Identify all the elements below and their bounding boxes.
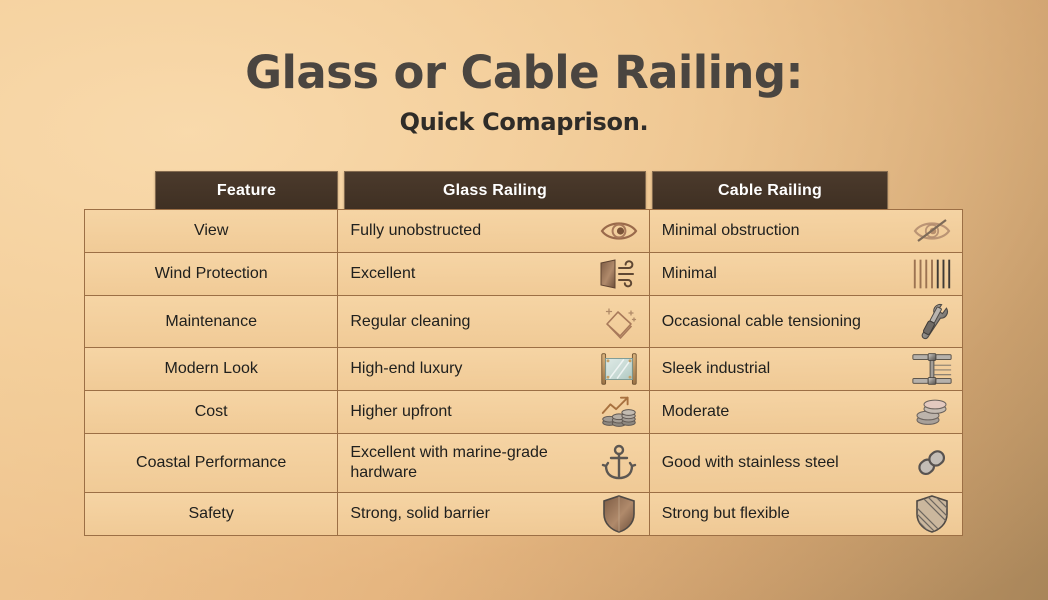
column-header-cable-railing: Cable Railing <box>652 171 888 210</box>
column-header-feature: Feature <box>155 171 338 210</box>
cell-glass-railing: Fully unobstructed <box>338 210 649 252</box>
feature-label: Safety <box>189 504 234 524</box>
coins-rising-chart-icon <box>597 392 641 432</box>
cell-cable-railing: Strong but flexible <box>650 493 962 535</box>
cable-value: Occasional cable tensioning <box>662 312 861 332</box>
comparison-infographic: Glass or Cable Railing: Quick Comaprison… <box>0 0 1048 600</box>
table-row: Coastal Performance Excellent with marin… <box>85 434 962 493</box>
glass-value: High-end luxury <box>350 359 462 379</box>
glass-value: Strong, solid barrier <box>350 504 490 524</box>
column-header-glass-railing: Glass Railing <box>344 171 646 210</box>
cell-glass-railing: Higher upfront <box>338 391 649 433</box>
feature-label: View <box>194 221 228 241</box>
cell-feature: Maintenance <box>85 296 338 347</box>
cell-feature: View <box>85 210 338 252</box>
page-title: Glass or Cable Railing: <box>0 46 1048 99</box>
cable-post-icon <box>910 349 954 389</box>
cell-feature: Modern Look <box>85 348 338 390</box>
cable-value: Moderate <box>662 402 730 422</box>
table-row: Safety Strong, solid barrier Strong but … <box>85 493 962 535</box>
feature-label: Coastal Performance <box>136 453 286 473</box>
table-row: Wind Protection Excellent Minimal <box>85 253 962 296</box>
table-row: Modern Look High-end luxury Sleek indust… <box>85 348 962 391</box>
cell-feature: Cost <box>85 391 338 433</box>
feature-label: Modern Look <box>164 359 257 379</box>
eye-slash-icon <box>910 211 954 251</box>
cell-glass-railing: Strong, solid barrier <box>338 493 649 535</box>
table-header-row: Feature Glass Railing Cable Railing <box>155 171 888 210</box>
coins-stack-icon <box>910 392 954 432</box>
vertical-cables-icon <box>910 254 954 294</box>
feature-label: Maintenance <box>165 312 257 332</box>
cell-cable-railing: Minimal <box>650 253 962 295</box>
cell-cable-railing: Sleek industrial <box>650 348 962 390</box>
cell-glass-railing: Excellent <box>338 253 649 295</box>
cell-glass-railing: Regular cleaning <box>338 296 649 347</box>
table-row: View Fully unobstructed Minimal obstruct… <box>85 210 962 253</box>
shield-solid-icon <box>597 494 641 534</box>
wrench-screwdriver-icon <box>910 302 954 342</box>
cell-feature: Safety <box>85 493 338 535</box>
sparkle-cloth-icon <box>597 302 641 342</box>
wind-panel-icon <box>597 254 641 294</box>
glass-value: Fully unobstructed <box>350 221 481 241</box>
cable-value: Strong but flexible <box>662 504 790 524</box>
glass-value: Excellent with marine-grade hardware <box>350 443 590 483</box>
glass-value: Higher upfront <box>350 402 451 422</box>
comparison-table: View Fully unobstructed Minimal obstruct… <box>84 209 963 536</box>
shield-striped-icon <box>910 494 954 534</box>
cell-cable-railing: Good with stainless steel <box>650 434 962 492</box>
cell-cable-railing: Occasional cable tensioning <box>650 296 962 347</box>
cell-glass-railing: High-end luxury <box>338 348 649 390</box>
table-row: Maintenance Regular cleaning Occasional … <box>85 296 962 348</box>
cell-cable-railing: Moderate <box>650 391 962 433</box>
table-row: Cost Higher upfront <box>85 391 962 434</box>
glass-value: Regular cleaning <box>350 312 470 332</box>
cell-feature: Wind Protection <box>85 253 338 295</box>
feature-label: Wind Protection <box>155 264 268 284</box>
cable-value: Minimal obstruction <box>662 221 800 241</box>
glass-panel-icon <box>597 349 641 389</box>
anchor-icon <box>597 443 641 483</box>
eye-icon <box>597 211 641 251</box>
cell-cable-railing: Minimal obstruction <box>650 210 962 252</box>
cable-value: Minimal <box>662 264 717 284</box>
cable-value: Good with stainless steel <box>662 453 839 473</box>
feature-label: Cost <box>195 402 228 422</box>
chain-link-icon <box>910 443 954 483</box>
page-subtitle: Quick Comaprison. <box>0 108 1048 136</box>
cell-feature: Coastal Performance <box>85 434 338 492</box>
glass-value: Excellent <box>350 264 415 284</box>
cable-value: Sleek industrial <box>662 359 771 379</box>
cell-glass-railing: Excellent with marine-grade hardware <box>338 434 649 492</box>
